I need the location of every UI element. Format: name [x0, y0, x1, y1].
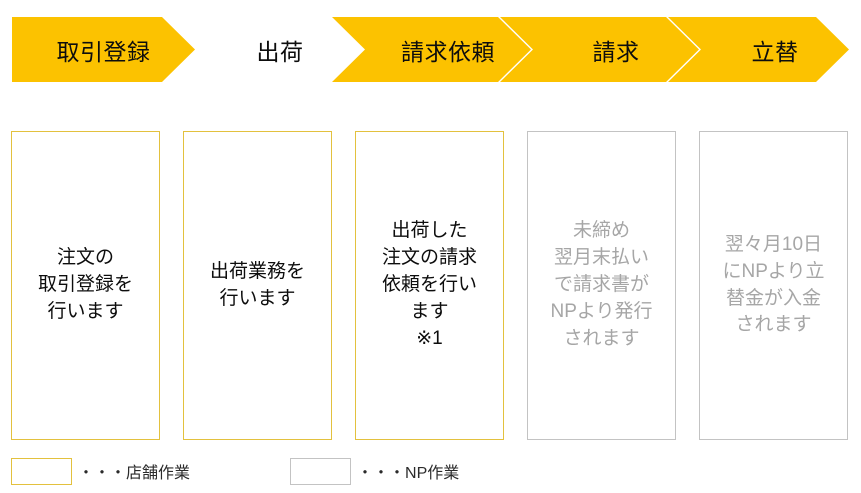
- step-box-4[interactable]: 未締め 翌月末払い で請求書が NPより発行 されます: [527, 131, 676, 440]
- step-box-5-text: 翌々月10日 にNPより立 替金が入金 されます: [722, 232, 824, 340]
- step-box-4-text: 未締め 翌月末払い で請求書が NPより発行 されます: [550, 218, 652, 353]
- legend-swatch-np-icon: [290, 458, 351, 485]
- legend-item-np: ・・・NP作業: [290, 458, 459, 485]
- chevron-label-step-1[interactable]: 取引登録: [12, 17, 195, 82]
- chevron-label-step-3[interactable]: 請求依頼: [365, 17, 531, 82]
- legend-item-shop: ・・・店舗作業: [11, 458, 190, 485]
- step-box-5[interactable]: 翌々月10日 にNPより立 替金が入金 されます: [699, 131, 848, 440]
- step-box-2-text: 出荷業務を 行います: [210, 259, 305, 313]
- legend-label-np: ・・・NP作業: [357, 459, 459, 483]
- step-box-2[interactable]: 出荷業務を 行います: [183, 131, 332, 440]
- step-box-3-text: 出荷した 注文の請求 依頼を行い ます ※1: [382, 218, 477, 353]
- legend: ・・・店舗作業 ・・・NP作業: [11, 456, 459, 486]
- process-step-banner: 取引登録 出荷 請求依頼 請求 立替: [12, 17, 849, 82]
- step-box-3[interactable]: 出荷した 注文の請求 依頼を行い ます ※1: [355, 131, 504, 440]
- legend-swatch-shop-icon: [11, 458, 72, 485]
- chevron-label-step-4[interactable]: 請求: [533, 17, 699, 82]
- step-box-1-text: 注文の 取引登録を 行います: [38, 245, 133, 326]
- step-box-1[interactable]: 注文の 取引登録を 行います: [11, 131, 160, 440]
- chevron-label-step-2[interactable]: 出荷: [197, 17, 363, 82]
- chevron-label-step-5[interactable]: 立替: [701, 17, 849, 82]
- process-flow-diagram: 取引登録 出荷 請求依頼 請求 立替 注文の 取引登録を 行います 出荷業務を …: [0, 0, 861, 493]
- legend-label-shop: ・・・店舗作業: [78, 459, 190, 483]
